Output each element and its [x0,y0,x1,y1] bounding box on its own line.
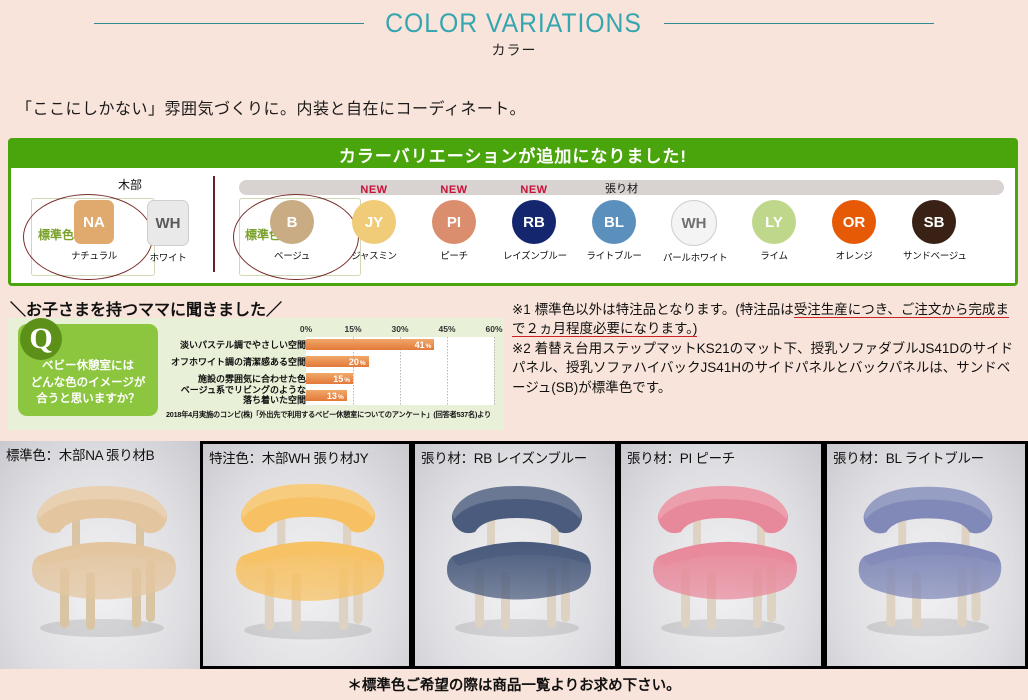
chart-category-label: オフホワイト調の清潔感ある空間 [170,357,306,367]
panel-banner: カラーバリエーションが追加になりました! [11,141,1015,168]
swatch-fabric-jy[interactable]: NEWJYジャスミン [343,200,405,262]
photo-caption: 張り材：BL ライトブルー [833,447,984,467]
swatch-chip-bl: BL [592,200,636,244]
photo-caption: 張り材：RB レイズンブルー [421,447,587,467]
swatch-fabric-bl[interactable]: BLライトブルー [583,200,645,262]
swatch-name-or: オレンジ [823,248,885,262]
new-badge: NEW [343,184,405,196]
chart-gridline [447,337,448,405]
swatch-chip-na: NA [74,200,114,244]
swatch-chip-sb: SB [912,200,956,244]
swatch-fabric-b[interactable]: Bベージュ [261,200,323,262]
photo-cell-2[interactable]: 特注色：木部WH 張り材JY [200,441,412,669]
swatch-chip-rb: RB [512,200,556,244]
chart-bar: 13% [306,390,347,401]
chart-tick-60: 60% [485,324,502,334]
chart-tick-15: 15% [344,324,361,334]
notes-block: ※1 標準色以外は特注品となります。(特注品は受注生産につき、ご注文から完成まで… [512,300,1020,397]
swatch-fabric-sb[interactable]: SBサンドベージュ [903,200,965,262]
color-variation-panel: カラーバリエーションが追加になりました! 木部 張り材 標準色 標準色 NAナチ… [8,138,1018,286]
photo-cell-1[interactable]: 標準色：木部NA 張り材B [0,441,200,669]
swatch-name-sb: サンドベージュ [903,248,965,262]
new-badge: NEW [423,184,485,196]
swatch-name-ly: ライム [743,248,805,262]
swatch-fabric-or[interactable]: ORオレンジ [823,200,885,262]
note-1: ※1 標準色以外は特注品となります。(特注品は受注生産につき、ご注文から完成まで… [512,300,1020,338]
chart-x-axis: 0%15%30%45%60% [306,324,494,336]
title-rule-right [664,23,934,24]
survey-bar-chart: 0%15%30%45%60% 41%20%15%13% 淡いパステル調でやさしい… [166,324,496,409]
swatch-name-bl: ライトブルー [583,248,645,262]
note-2: ※2 着替え台用ステップマットKS21のマット下、授乳ソファダブルJS41Dのサ… [512,339,1020,396]
chart-bar: 41% [306,339,434,350]
swatch-fabric-wh[interactable]: WHパールホワイト [663,200,725,264]
photo-strip: 標準色：木部NA 張り材B 特注色：木部WH 張り材JY [0,441,1028,669]
swatch-name-rb: レイズンブルー [503,248,565,262]
title-rule-left [94,23,364,24]
swatch-name-jy: ジャスミン [343,248,405,262]
lead-text: 「ここにしかない」雰囲気づくりに。内装と自在にコーディネート。 [16,95,526,119]
swatch-fabric-pi[interactable]: NEWPIピーチ [423,200,485,262]
footer-note: ＊標準色ご希望の際は商品一覧よりお求め下さい。 [347,674,680,695]
chart-category-label: 淡いパステル調でやさしい空間 [170,340,306,350]
chart-bar: 15% [306,373,353,384]
photo-cell-4[interactable]: 張り材：PI ピーチ [618,441,824,669]
group-label-wood: 木部 [75,176,185,193]
photo-caption: 張り材：PI ピーチ [627,447,735,467]
survey-panel: Q ベビー休憩室にはどんな色のイメージが合うと思いますか？ 0%15%30%45… [8,318,504,430]
chart-plot-area: 41%20%15%13% [306,337,494,405]
swatch-fabric-ly[interactable]: LYライム [743,200,805,262]
chart-bar: 20% [306,356,369,367]
page-subtitle: カラー [0,40,1028,60]
swatch-chip-or: OR [832,200,876,244]
chart-category-label: ベージュ系でリビングのような落ち着いた空間 [170,385,306,406]
photo-cell-3[interactable]: 張り材：RB レイズンブルー [412,441,618,669]
footer-bar: ＊標準色ご希望の際は商品一覧よりお求め下さい。 [0,669,1028,700]
chart-bar-value: 20% [349,357,366,367]
swatch-name-wh: ホワイト [137,250,199,264]
swatch-row: NAナチュラルWHホワイトBベージュNEWJYジャスミンNEWPIピーチNEWR… [11,200,1015,280]
chart-bar-value: 13% [327,391,344,401]
chart-tick-45: 45% [438,324,455,334]
title-row: COLOR VARIATIONS [0,8,1028,39]
question-badge-icon: Q [20,318,62,360]
chart-tick-0: 0% [300,324,312,334]
swatch-wood-na[interactable]: NAナチュラル [63,200,125,262]
chart-tick-30: 30% [391,324,408,334]
swatch-fabric-rb[interactable]: NEWRBレイズンブルー [503,200,565,262]
swatch-name-na: ナチュラル [63,248,125,262]
swatch-chip-wh: WH [671,200,717,246]
chart-bar-value: 15% [333,374,350,384]
swatch-name-b: ベージュ [261,248,323,262]
photo-caption: 標準色：木部NA 張り材B [6,444,154,464]
swatch-name-pi: ピーチ [423,248,485,262]
photo-cell-5[interactable]: 張り材：BL ライトブルー [824,441,1028,669]
swatch-wood-wh[interactable]: WHホワイト [137,200,199,264]
survey-question-card: Q ベビー休憩室にはどんな色のイメージが合うと思いますか？ [18,324,158,416]
swatch-chip-b: B [270,200,314,244]
new-badge: NEW [503,184,565,196]
chart-source-note: 2018年4月実施のコンビ(株)「外出先で利用するベビー休憩室についてのアンケー… [166,410,506,420]
chart-gridline [494,337,495,405]
chart-category-label: 施設の雰囲気に合わせた色 [170,374,306,384]
page-title: COLOR VARIATIONS [386,8,643,39]
swatch-chip-pi: PI [432,200,476,244]
survey-question-text: ベビー休憩室にはどんな色のイメージが合うと思いますか？ [31,358,146,408]
swatch-chip-jy: JY [352,200,396,244]
photo-caption: 特注色：木部WH 張り材JY [209,447,368,467]
panel-body: 木部 張り材 標準色 標準色 NAナチュラルWHホワイトBベージュNEWJYジャ… [11,168,1015,283]
chart-bar-value: 41% [415,340,432,350]
note-1-prefix: ※1 標準色以外は特注品となります。(特注品は [512,302,794,317]
swatch-chip-ly: LY [752,200,796,244]
swatch-name-wh: パールホワイト [663,250,725,264]
swatch-chip-wh: WH [147,200,189,246]
